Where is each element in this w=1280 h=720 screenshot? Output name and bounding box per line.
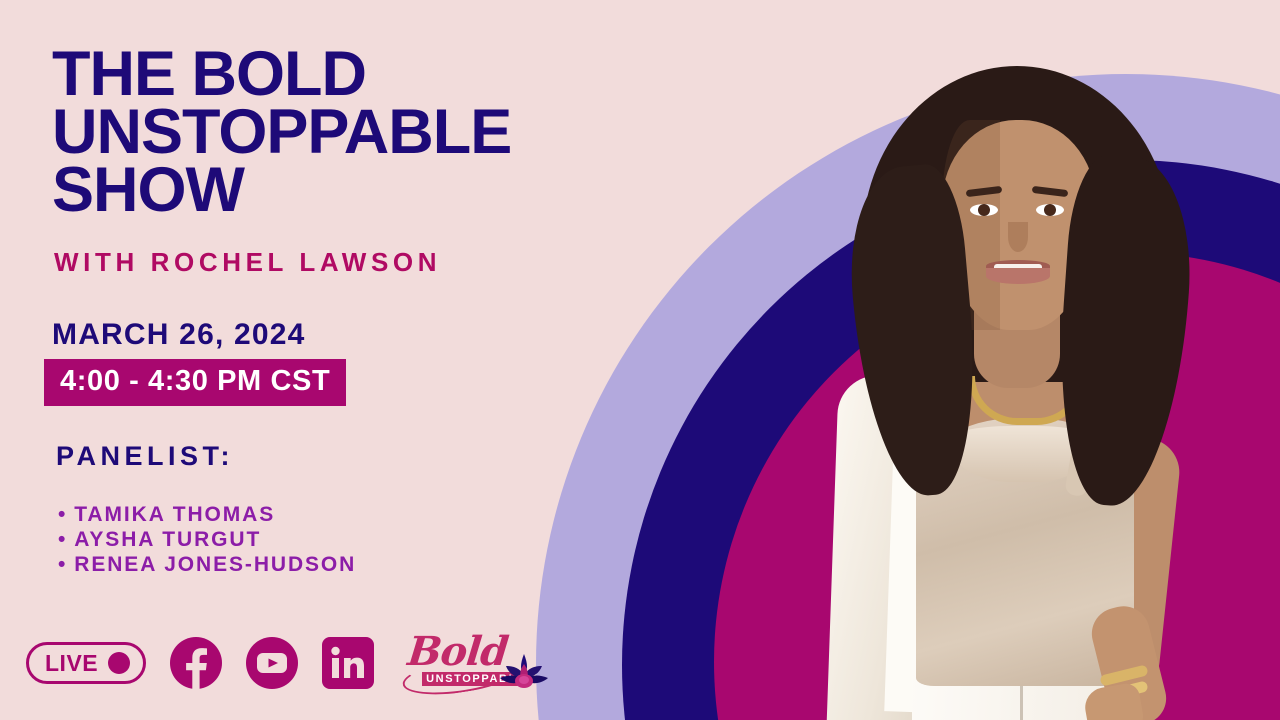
title-line-3: SHOW	[52, 162, 832, 220]
title-line-1: THE BOLD	[52, 46, 832, 104]
host-subtitle: WITH ROCHEL LAWSON	[54, 247, 441, 278]
live-badge-label: LIVE	[45, 650, 98, 676]
list-item: RENEA JONES-HUDSON	[58, 552, 356, 577]
list-item: TAMIKA THOMAS	[58, 502, 356, 527]
panelist-list: TAMIKA THOMAS AYSHA TURGUT RENEA JONES-H…	[58, 502, 356, 577]
lower-lip	[986, 268, 1050, 284]
facebook-icon[interactable]	[170, 637, 222, 689]
content-column: THE BOLD UNSTOPPABLE SHOW WITH ROCHEL LA…	[0, 0, 640, 720]
bottom-bar: LIVE Bold	[26, 632, 542, 694]
pupil-left	[978, 204, 990, 216]
live-badge: LIVE	[26, 642, 146, 684]
panelist-label: PANELIST:	[56, 441, 234, 472]
lotus-icon	[498, 650, 550, 694]
promo-graphic: THE BOLD UNSTOPPABLE SHOW WITH ROCHEL LA…	[0, 0, 1280, 720]
brand-logo: Bold UNSTOPPABLE	[402, 632, 542, 694]
linkedin-icon[interactable]	[322, 637, 374, 689]
list-item: AYSHA TURGUT	[58, 527, 356, 552]
pupil-right	[1044, 204, 1056, 216]
brand-script-text: Bold	[406, 628, 511, 675]
youtube-icon[interactable]	[246, 637, 298, 689]
event-date: MARCH 26, 2024	[52, 318, 306, 352]
title-line-2: UNSTOPPABLE	[52, 104, 832, 162]
live-indicator-dot	[108, 652, 130, 674]
nose	[1008, 222, 1028, 252]
page-title: THE BOLD UNSTOPPABLE SHOW	[52, 46, 832, 220]
event-time-badge: 4:00 - 4:30 PM CST	[44, 359, 346, 406]
presenter-photo	[770, 46, 1280, 720]
